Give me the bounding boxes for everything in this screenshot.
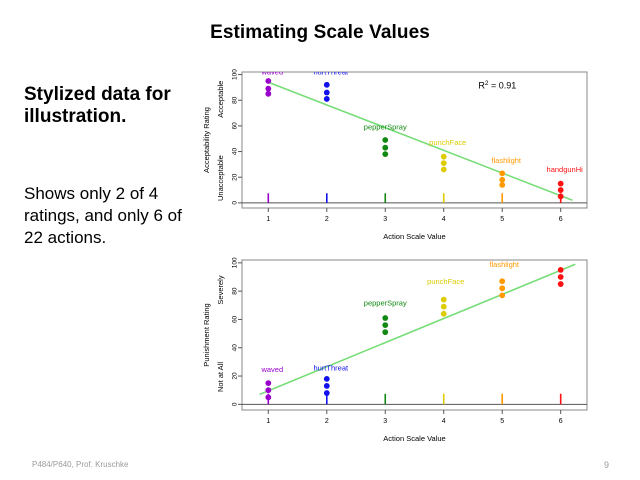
data-point <box>265 394 271 400</box>
x-axis-title: Action Scale Value <box>383 434 445 443</box>
series-label-hurtThreat: hurtThreat <box>313 363 349 372</box>
body-text: Shows only 2 of 4 ratings, and only 6 of… <box>24 183 204 248</box>
page-title: Estimating Scale Values <box>0 22 640 44</box>
data-point <box>558 281 564 287</box>
y-tick-label: 40 <box>232 344 239 352</box>
data-point <box>324 383 330 389</box>
slide-canvas: Estimating Scale Values Stylized data fo… <box>0 0 640 480</box>
data-point <box>499 292 505 298</box>
x-tick-label: 6 <box>559 418 563 425</box>
y-tick-label: 60 <box>232 315 239 323</box>
data-point <box>382 145 388 151</box>
y-axis-title: Acceptability Rating <box>202 107 211 173</box>
data-point <box>324 82 330 88</box>
y-tick-label: 80 <box>232 96 239 104</box>
x-tick-label: 2 <box>325 418 329 425</box>
data-point <box>499 182 505 188</box>
x-tick-label: 5 <box>500 418 504 425</box>
data-point <box>558 274 564 280</box>
y-tick-label: 20 <box>232 173 239 181</box>
data-point <box>382 137 388 143</box>
regression-line <box>268 82 572 200</box>
x-tick-label: 2 <box>325 216 329 223</box>
series-label-handgunHi: handgunHi <box>547 165 584 174</box>
y-tick-label: 60 <box>232 122 239 130</box>
series-label-punchFace: punchFace <box>427 277 464 286</box>
data-point <box>265 387 271 393</box>
data-point <box>382 322 388 328</box>
data-point <box>558 267 564 273</box>
x-tick-label: 3 <box>383 216 387 223</box>
series-label-pepperSpray: pepperSpray <box>364 298 407 307</box>
plot-box <box>242 260 587 410</box>
series-label-flashlight: flashlight <box>491 156 522 165</box>
data-point <box>441 167 447 173</box>
x-axis-title: Action Scale Value <box>383 232 445 241</box>
data-point <box>382 329 388 335</box>
data-point <box>558 181 564 187</box>
y-tick-label: 100 <box>232 69 239 80</box>
x-tick-label: 1 <box>266 216 270 223</box>
data-point <box>265 86 271 92</box>
data-point <box>499 285 505 291</box>
chart-punishment-rating: 020406080100123456Action Scale ValuePuni… <box>200 248 595 444</box>
y-tick-label: 100 <box>232 257 239 268</box>
y-tick-label: 40 <box>232 148 239 156</box>
data-point <box>558 187 564 193</box>
data-point <box>265 91 271 97</box>
y-tick-label: 80 <box>232 287 239 295</box>
footer-course-label: P484/P640, Prof. Kruschke <box>32 460 129 469</box>
data-point <box>499 170 505 176</box>
data-point <box>499 278 505 284</box>
data-point <box>441 154 447 160</box>
series-label-punchFace: punchFace <box>429 138 466 147</box>
data-point <box>499 177 505 183</box>
data-point <box>324 90 330 96</box>
x-tick-label: 4 <box>442 216 446 223</box>
r-squared-annotation: R2 = 0.91 <box>478 80 516 90</box>
y-tick-label: 0 <box>232 201 239 205</box>
y-axis-title: Punishment Rating <box>202 303 211 366</box>
plot-content: wavedhurtThreatpepperSpraypunchFaceflash… <box>260 68 583 203</box>
y-axis-low-label: Unacceptable <box>216 155 225 201</box>
chart-acceptability-rating: 020406080100123456Action Scale ValueAcce… <box>200 60 595 242</box>
plot-content: wavedhurtThreatpepperSpraypunchFaceflash… <box>260 250 582 404</box>
data-point <box>382 315 388 321</box>
series-label-waved: waved <box>260 68 283 77</box>
data-point <box>265 78 271 84</box>
data-point <box>265 380 271 386</box>
series-label-handgunHi: handgunHi <box>545 250 582 259</box>
data-point <box>324 376 330 382</box>
y-axis-high-label: Severely <box>216 275 225 304</box>
x-tick-label: 6 <box>559 216 563 223</box>
regression-line <box>260 264 576 394</box>
data-point <box>324 96 330 102</box>
data-point <box>441 311 447 317</box>
y-axis-high-label: Acceptable <box>216 81 225 118</box>
series-label-waved: waved <box>260 365 283 374</box>
data-point <box>441 160 447 166</box>
x-tick-label: 5 <box>500 216 504 223</box>
plot-surface: 020406080100123456Action Scale ValuePuni… <box>200 248 595 444</box>
x-tick-label: 3 <box>383 418 387 425</box>
y-tick-label: 0 <box>232 402 239 406</box>
x-tick-label: 4 <box>442 418 446 425</box>
series-label-flashlight: flashlight <box>489 260 520 269</box>
y-tick-label: 20 <box>232 372 239 380</box>
data-point <box>324 390 330 396</box>
footer-page-number: 9 <box>604 460 609 470</box>
data-point <box>441 304 447 310</box>
data-point <box>558 194 564 200</box>
data-point <box>441 297 447 303</box>
lead-text: Stylized data for illustration. <box>24 84 199 129</box>
data-point <box>382 151 388 157</box>
x-tick-label: 1 <box>266 418 270 425</box>
series-label-pepperSpray: pepperSpray <box>364 123 407 132</box>
series-label-hurtThreat: hurtThreat <box>313 68 349 77</box>
plot-surface: 020406080100123456Action Scale ValueAcce… <box>200 60 595 242</box>
y-axis-low-label: Not at All <box>216 362 225 392</box>
